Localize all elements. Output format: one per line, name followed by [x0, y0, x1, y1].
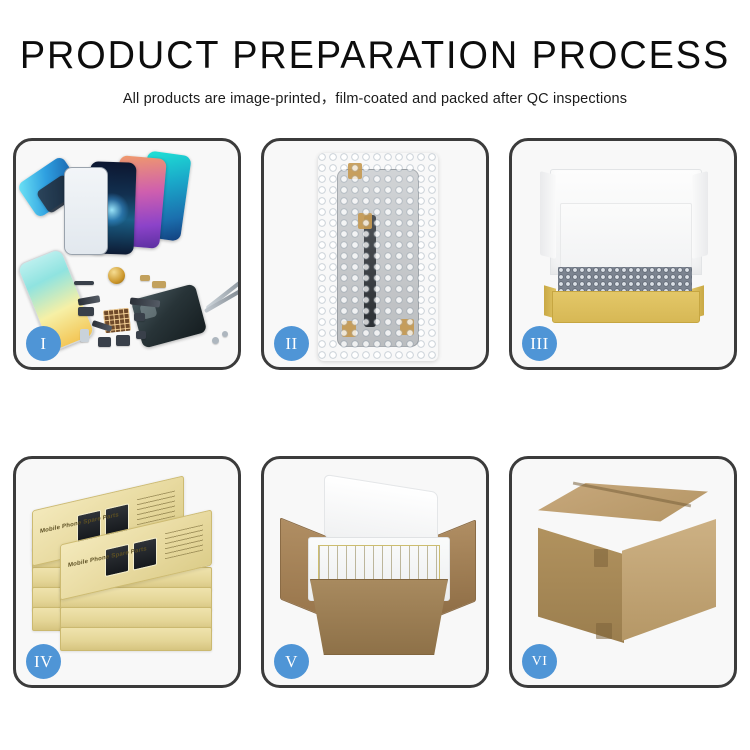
sealed-shipping-carton	[532, 483, 720, 659]
process-step-6: VI Sealed brown corrugated shipping cart…	[509, 456, 737, 688]
spare-part	[136, 331, 146, 339]
process-step-5: V Cardboard carton holding a white foam …	[261, 456, 489, 688]
wrapped-flex-cable	[364, 215, 376, 327]
bubble-wrap-bag	[318, 153, 438, 361]
page-subtitle: All products are image-printed，film-coat…	[0, 87, 750, 108]
tweezers-tool	[204, 289, 238, 313]
spare-part	[152, 281, 166, 288]
box-lid-right-flap	[692, 171, 708, 259]
process-step-3: III Open yellow mailer box with foam lin…	[509, 138, 737, 370]
step-badge-2: II	[274, 326, 309, 361]
screw-part	[222, 331, 228, 337]
spare-part	[78, 307, 94, 316]
wrapped-connector	[342, 321, 356, 337]
spare-part	[74, 281, 94, 285]
process-step-4: Mobile Phone Spare Parts Mobile Phone Sp…	[13, 456, 241, 688]
process-step-2: II Single screen sealed inside a bubble …	[261, 138, 489, 370]
spare-part	[80, 329, 89, 342]
spare-part	[140, 275, 150, 281]
wrapped-connector	[358, 213, 372, 229]
stacked-box	[60, 627, 212, 651]
gold-coil-part	[108, 267, 125, 284]
open-mailer-box	[538, 163, 710, 339]
step-badge-4: IV	[26, 644, 61, 679]
spare-part	[116, 335, 130, 346]
wrapped-connector	[348, 163, 362, 179]
carton-tape-mark-upper	[594, 549, 608, 567]
foam-insert	[560, 203, 692, 269]
carton-tape-mark-lower	[596, 623, 612, 639]
spare-part	[134, 313, 145, 321]
box-spec-text-block	[165, 525, 203, 560]
carton-with-foam-box	[280, 479, 476, 665]
box-lid-left-flap	[540, 171, 556, 259]
page-title: PRODUCT PREPARATION PROCESS	[11, 36, 739, 77]
carton-right-face	[622, 519, 716, 641]
process-step-grid: I Mobile phone LCD screens, glass and di…	[13, 138, 737, 690]
step-badge-3: III	[522, 326, 557, 361]
step-badge-1: I	[26, 326, 61, 361]
screw-part	[212, 337, 219, 344]
page-header: PRODUCT PREPARATION PROCESS All products…	[0, 36, 750, 108]
box-front-panel	[552, 291, 700, 323]
tempered-glass-protector	[64, 167, 108, 255]
spare-part	[98, 337, 111, 347]
box-window-left	[105, 544, 129, 578]
flex-cable-part	[78, 295, 101, 306]
step-badge-5: V	[274, 644, 309, 679]
wrapped-connector	[400, 319, 414, 335]
product-preparation-page: PRODUCT PREPARATION PROCESS All products…	[0, 0, 750, 750]
process-step-1: I Mobile phone LCD screens, glass and di…	[13, 138, 241, 370]
step-badge-6: VI	[522, 644, 557, 679]
carton-body	[310, 579, 448, 655]
kraft-box-stack: Mobile Phone Spare Parts Mobile Phone Sp…	[30, 481, 228, 661]
